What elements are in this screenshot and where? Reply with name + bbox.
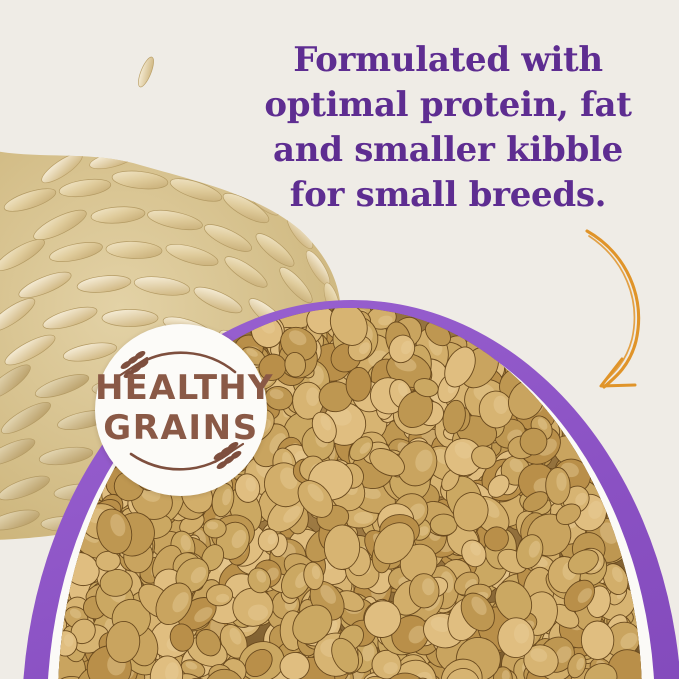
headline: Formulated with optimal protein, fat and…	[248, 38, 648, 218]
arrow-shaft	[587, 231, 639, 387]
headline-line-3: and smaller kibble	[248, 128, 648, 173]
badge-line-2: GRAINS	[95, 408, 267, 448]
headline-line-1: Formulated with	[248, 38, 648, 83]
product-image: HEALTHY GRAINS Formulated with optimal p…	[0, 0, 679, 679]
healthy-grains-badge[interactable]: HEALTHY GRAINS	[95, 324, 267, 496]
badge-line-1: HEALTHY	[95, 368, 267, 408]
headline-line-2: optimal protein, fat	[248, 83, 648, 128]
curved-arrow	[560, 205, 670, 405]
badge-text: HEALTHY GRAINS	[95, 368, 267, 448]
